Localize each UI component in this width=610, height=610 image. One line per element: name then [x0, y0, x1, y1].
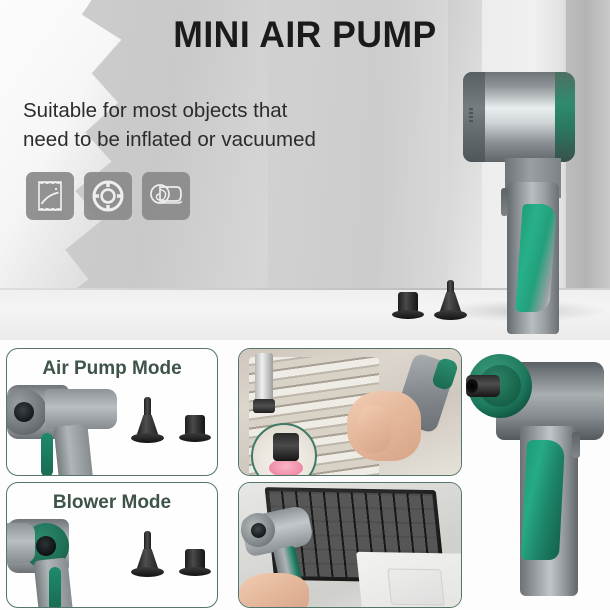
air-pump-mode-product	[6, 385, 131, 476]
short-cup-nozzle-accessory	[179, 549, 211, 578]
laptop-trackpad	[387, 568, 444, 605]
keyboard-cleaning-usage-photo[interactable]	[238, 482, 462, 608]
hand	[239, 573, 309, 608]
inset-valve-pink	[269, 459, 303, 476]
modes-section: Air Pump Mode Blower Mode	[0, 340, 610, 610]
vacuum-bag-usage-photo[interactable]	[238, 348, 462, 476]
nozzle-base	[131, 567, 164, 577]
product-barrel-cap	[463, 72, 485, 162]
short-cup-nozzle-accessory	[392, 292, 424, 320]
product-body	[6, 523, 35, 563]
short-cup-nozzle-accessory	[179, 415, 211, 444]
blower-mode-product	[6, 519, 131, 608]
hero-section: MINI AIR PUMP Suitable for most objects …	[0, 0, 610, 340]
inset-nozzle-black	[273, 433, 299, 461]
product-blower-hole	[36, 536, 56, 556]
product-intake-hole	[14, 402, 34, 422]
product-marketing-image: MINI AIR PUMP Suitable for most objects …	[0, 0, 610, 610]
nozzle-base	[179, 433, 211, 442]
product-trigger	[572, 432, 580, 458]
nozzle-base	[179, 567, 211, 576]
bag-valve-cap	[253, 399, 275, 413]
bag-valve-nozzle	[255, 353, 273, 405]
product-intake-hole	[251, 523, 266, 538]
blower-mode-product-showcase	[462, 344, 610, 610]
photo-content	[239, 483, 461, 607]
nozzle-opening	[466, 379, 478, 393]
air-pump-mode-label: Air Pump Mode	[7, 358, 217, 380]
product-green-grip	[41, 433, 53, 476]
hero-product-image	[455, 72, 575, 334]
nozzle-base	[131, 433, 164, 443]
product-handle	[53, 423, 94, 476]
life-ring-icon	[84, 172, 132, 220]
product-green-grip	[521, 440, 565, 560]
tapered-cone-nozzle-accessory	[434, 280, 467, 321]
product-green-grip	[49, 567, 61, 608]
nozzle-body	[398, 292, 418, 312]
rolled-mattress-icon	[142, 172, 190, 220]
nozzle-body	[185, 415, 205, 435]
product-vent	[469, 108, 473, 122]
fingers	[357, 405, 391, 453]
tapered-cone-nozzle-accessory	[131, 531, 164, 577]
product-trigger	[501, 188, 508, 216]
nozzle-base	[392, 310, 424, 319]
air-pump-mode-card[interactable]: Air Pump Mode	[6, 348, 218, 476]
page-title: MINI AIR PUMP	[12, 14, 598, 56]
blower-mode-card[interactable]: Blower Mode	[6, 482, 218, 608]
hero-subtitle: Suitable for most objects that need to b…	[23, 96, 316, 154]
photo-content	[239, 349, 461, 475]
product-barrel-green-end	[555, 72, 575, 162]
vacuum-bag-icon	[26, 172, 74, 220]
nozzle-base	[434, 310, 467, 320]
tapered-cone-nozzle-accessory	[131, 397, 164, 443]
showcase-product	[462, 344, 610, 610]
nozzle-body	[185, 549, 205, 569]
feature-icon-row	[26, 172, 190, 220]
blower-mode-label: Blower Mode	[7, 492, 217, 514]
